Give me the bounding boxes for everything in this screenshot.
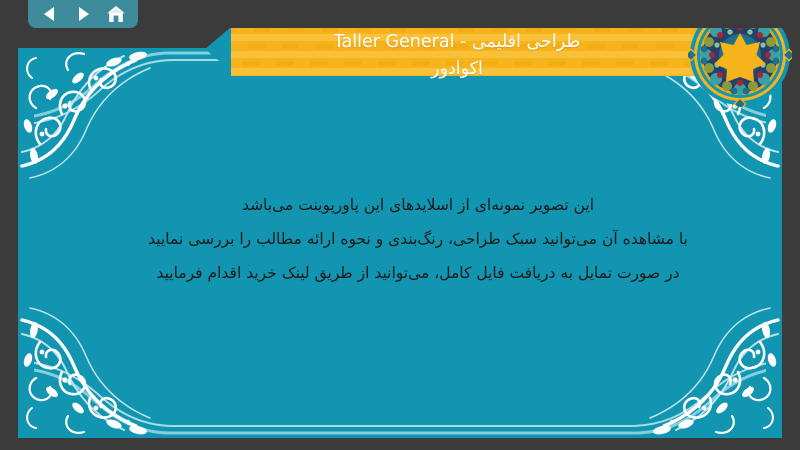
body-line-1: این تصویر نمونه‌ای از اسلایدهای این پاور… — [78, 188, 758, 222]
triangle-right-icon — [74, 5, 92, 23]
nav-button-group — [28, 0, 138, 28]
slide-body-text: این تصویر نمونه‌ای از اسلایدهای این پاور… — [78, 188, 758, 290]
triangle-left-icon — [41, 5, 59, 23]
viewer-toolbar — [0, 0, 800, 28]
slide-canvas: این تصویر نمونه‌ای از اسلایدهای این پاور… — [18, 48, 782, 438]
next-slide-button[interactable] — [70, 3, 96, 25]
presentation-viewer: این تصویر نمونه‌ای از اسلایدهای این پاور… — [0, 0, 800, 450]
previous-slide-button[interactable] — [37, 3, 63, 25]
title-line-3: اکوادور — [233, 56, 681, 83]
body-line-3: در صورت تمایل به دریافت فایل کامل، می‌تو… — [78, 256, 758, 290]
home-button[interactable] — [103, 3, 129, 25]
body-line-2: با مشاهده آن می‌توانید سبک طراحی، رنگ‌بن… — [78, 222, 758, 256]
title-line-2: طراحی اقلیمی - Taller General — [233, 29, 681, 56]
house-icon — [106, 5, 126, 24]
